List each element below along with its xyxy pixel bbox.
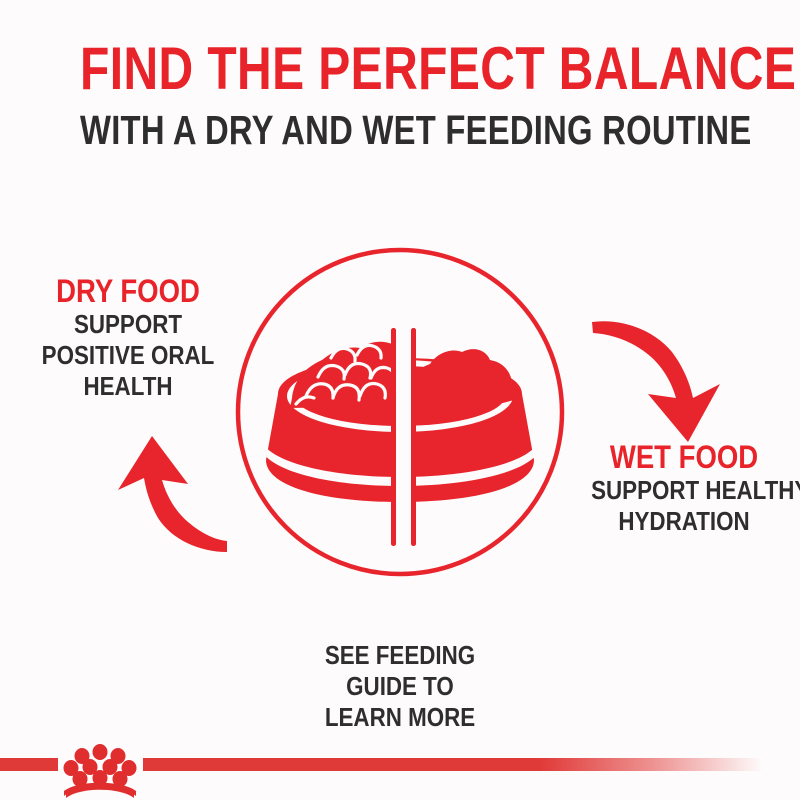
caption-line-1: SEE FEEDING [56,640,744,671]
label-dry-food: DRY FOOD SUPPORT POSITIVE ORAL HEALTH [18,274,238,402]
arrow-curve-down-right-icon [592,312,732,444]
bowl-emblem [234,246,566,578]
bowl-graphic [266,328,535,546]
caption-line-2: GUIDE TO [56,671,744,702]
wet-food-mound [406,349,515,408]
dry-food-category: DRY FOOD [33,274,222,309]
footer-bar-left [0,758,58,771]
page-title: FIND THE PERFECT BALANCE [80,38,720,100]
label-wet-food: WET FOOD SUPPORT HEALTHY HYDRATION [576,440,792,537]
kibble-mound [290,337,402,408]
page-subtitle: WITH A DRY AND WET FEEDING ROUTINE [80,106,720,154]
caption-line-3: LEARN MORE [56,702,744,733]
dry-food-line-1: SUPPORT [33,309,222,340]
wet-food-line-1: SUPPORT HEALTHY [591,475,777,506]
arrow-curve-up-left-icon [96,432,228,554]
headline-block: FIND THE PERFECT BALANCE WITH A DRY AND … [0,38,800,154]
feeding-guide-caption: SEE FEEDING GUIDE TO LEARN MORE [0,640,800,733]
royal-canin-crown-icon [52,744,148,798]
dog-bowl-split-dry-wet-icon [234,246,566,578]
dry-food-line-2: POSITIVE ORAL [33,340,222,371]
wet-food-category: WET FOOD [591,440,777,475]
footer-bar-right [143,758,763,771]
wet-food-line-2: HYDRATION [591,506,777,537]
footer-brand-bar [0,744,800,800]
infographic-canvas: FIND THE PERFECT BALANCE WITH A DRY AND … [0,0,800,800]
dry-food-line-3: HEALTH [33,371,222,402]
